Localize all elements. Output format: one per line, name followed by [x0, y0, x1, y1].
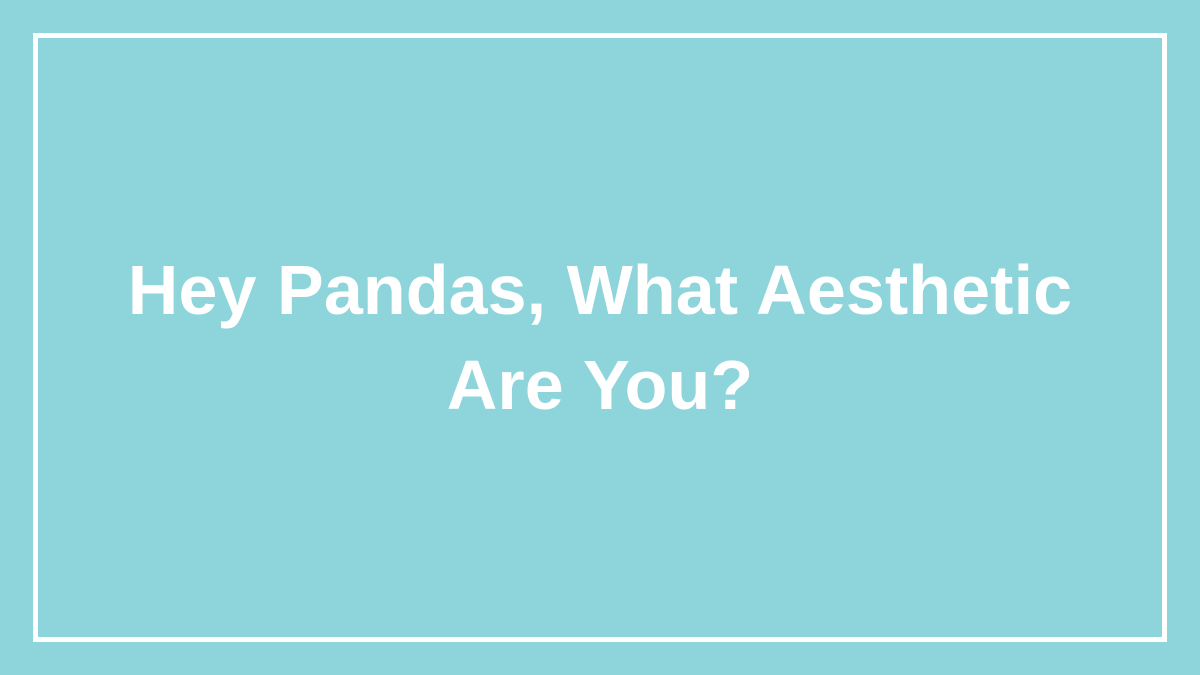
poster-canvas: Hey Pandas, What Aesthetic Are You?: [0, 0, 1200, 675]
page-title: Hey Pandas, What Aesthetic Are You?: [85, 243, 1115, 433]
title-container: Hey Pandas, What Aesthetic Are You?: [33, 33, 1167, 642]
